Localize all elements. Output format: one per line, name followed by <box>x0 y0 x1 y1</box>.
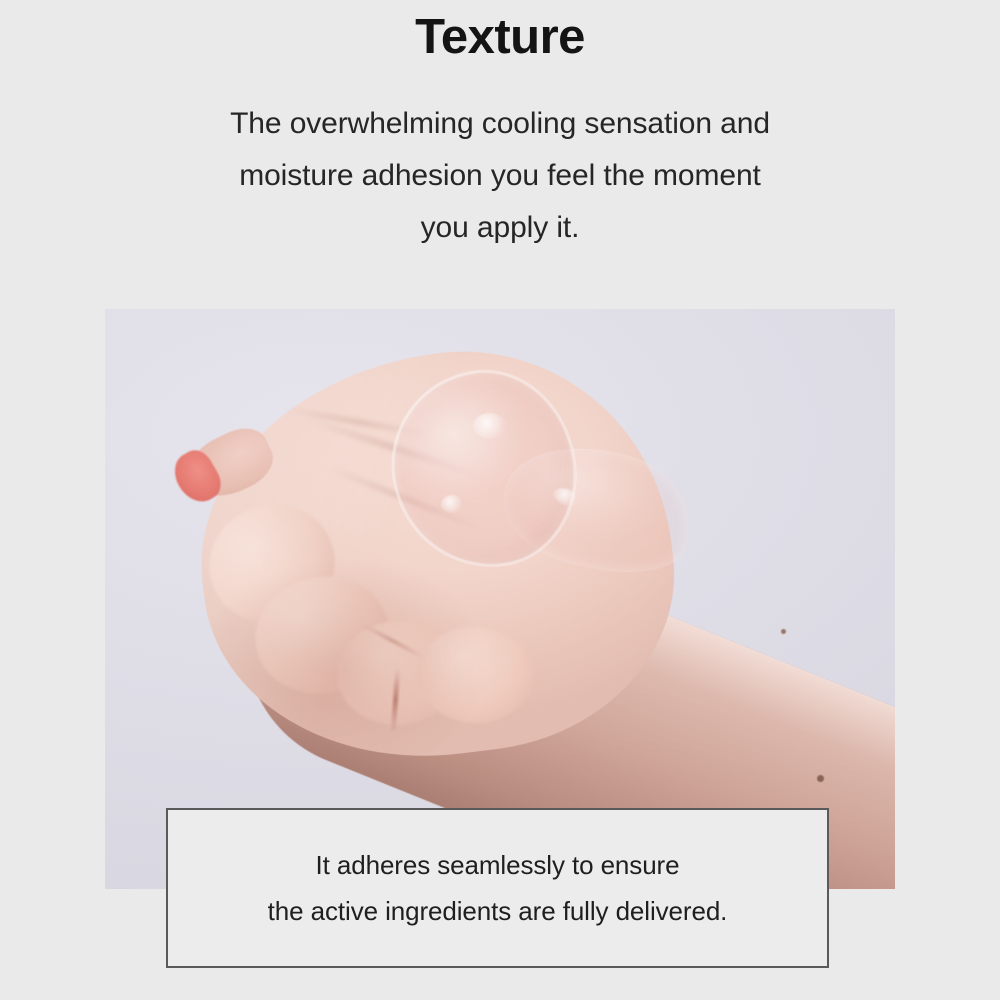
caption-box: It adheres seamlessly to ensure the acti… <box>166 808 829 968</box>
subtitle-line-2: moisture adhesion you feel the moment <box>110 150 890 202</box>
product-photo <box>105 309 895 889</box>
page-subtitle: The overwhelming cooling sensation and m… <box>110 98 890 254</box>
subtitle-line-1: The overwhelming cooling sensation and <box>110 98 890 150</box>
gel-highlight-1 <box>473 413 507 439</box>
page-title: Texture <box>0 6 1000 68</box>
skin-mole <box>817 775 824 782</box>
caption-line-1: It adheres seamlessly to ensure <box>268 842 728 888</box>
caption-line-2: the active ingredients are fully deliver… <box>268 888 728 934</box>
gel-highlight-2 <box>441 495 463 513</box>
subtitle-line-3: you apply it. <box>110 202 890 254</box>
skin-mole-small <box>781 629 786 634</box>
caption-text: It adheres seamlessly to ensure the acti… <box>268 842 728 934</box>
